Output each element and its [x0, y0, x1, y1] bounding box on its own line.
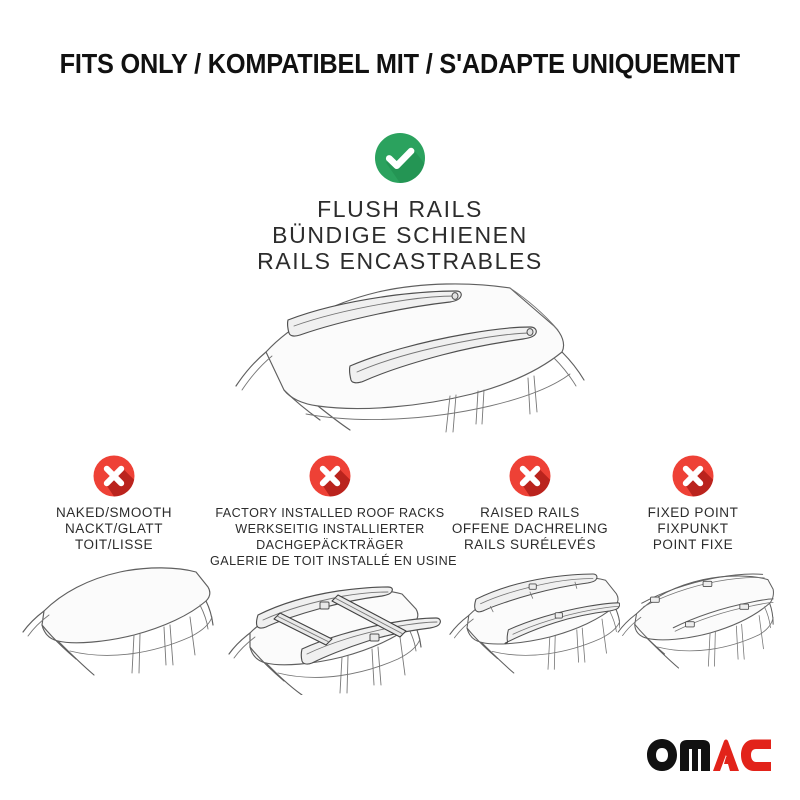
incompatible-label-de: NACKT/GLATT: [14, 521, 214, 537]
incompatible-label-en: NAKED/SMOOTH: [14, 505, 214, 521]
cross-circle-icon: [309, 455, 351, 497]
compatible-label-en: FLUSH RAILS: [0, 196, 800, 222]
compatible-section: FLUSH RAILS BÜNDIGE SCHIENEN RAILS ENCAS…: [0, 132, 800, 274]
incompatible-item-raised-rails: RAISED RAILS OFFENE DACHRELING RAILS SUR…: [440, 450, 620, 679]
incompatible-label-de: FIXPUNKT: [612, 521, 774, 537]
cross-circle-icon: [672, 455, 714, 497]
incompatible-label-fr: RAILS SURÉLEVÉS: [440, 537, 620, 553]
car-roof-naked-smooth-illustration: [14, 559, 214, 679]
incompatible-label-fr: GALERIE DE TOIT INSTALLÉ EN USINE: [210, 553, 450, 569]
omac-logo: [646, 738, 772, 772]
check-circle-icon: [374, 132, 426, 184]
cross-circle-icon: [93, 455, 135, 497]
cross-circle-icon: [509, 455, 551, 497]
incompatible-label-en: RAISED RAILS: [440, 505, 620, 521]
incompatible-item-fixed-point: FIXED POINT FIXPUNKT POINT FIXE: [612, 450, 774, 679]
incompatible-labels: FACTORY INSTALLED ROOF RACKS WERKSEITIG …: [210, 505, 450, 569]
compatible-label-de: BÜNDIGE SCHIENEN: [0, 222, 800, 248]
compatible-label-fr: RAILS ENCASTRABLES: [0, 248, 800, 274]
incompatible-labels: FIXED POINT FIXPUNKT POINT FIXE: [612, 505, 774, 553]
incompatible-labels: NAKED/SMOOTH NACKT/GLATT TOIT/LISSE: [14, 505, 214, 553]
incompatible-section: NAKED/SMOOTH NACKT/GLATT TOIT/LISSE: [0, 450, 800, 700]
car-roof-flush-rails-illustration: [210, 274, 590, 434]
incompatible-label-fr: TOIT/LISSE: [14, 537, 214, 553]
incompatible-label-de-1: WERKSEITIG INSTALLIERTER: [210, 521, 450, 537]
compatible-labels: FLUSH RAILS BÜNDIGE SCHIENEN RAILS ENCAS…: [0, 196, 800, 274]
incompatible-label-en: FIXED POINT: [612, 505, 774, 521]
car-roof-fixed-point-illustration: [612, 559, 774, 679]
incompatible-label-fr: POINT FIXE: [612, 537, 774, 553]
incompatible-item-naked-smooth: NAKED/SMOOTH NACKT/GLATT TOIT/LISSE: [14, 450, 214, 679]
incompatible-label-en: FACTORY INSTALLED ROOF RACKS: [210, 505, 450, 521]
incompatible-label-de: OFFENE DACHRELING: [440, 521, 620, 537]
car-roof-factory-roof-racks-illustration: [210, 575, 450, 695]
car-roof-raised-rails-illustration: [440, 559, 620, 679]
page-title-text: FITS ONLY / KOMPATIBEL MIT / S'ADAPTE UN…: [60, 48, 740, 80]
page-title: FITS ONLY / KOMPATIBEL MIT / S'ADAPTE UN…: [0, 48, 800, 80]
incompatible-labels: RAISED RAILS OFFENE DACHRELING RAILS SUR…: [440, 505, 620, 553]
incompatible-item-factory-roof-racks: FACTORY INSTALLED ROOF RACKS WERKSEITIG …: [210, 450, 450, 695]
incompatible-label-de-2: DACHGEPÄCKTRÄGER: [210, 537, 450, 553]
